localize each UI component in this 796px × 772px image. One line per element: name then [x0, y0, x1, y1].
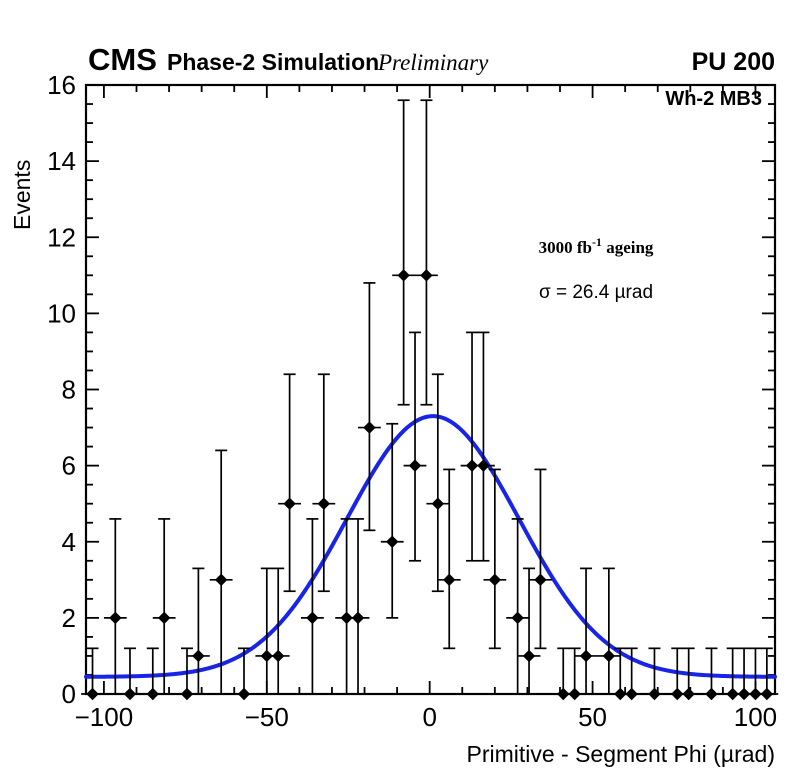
x-tick-label: 0 — [422, 702, 436, 732]
x-tick-label: −100 — [75, 702, 134, 732]
x-axis-title: Primitive - Segment Phi (µrad) — [466, 741, 775, 767]
wheel-station-label: Wh-2 MB3 — [665, 88, 762, 110]
phase2-simulation-label: Phase-2 Simulation — [167, 49, 379, 75]
y-tick-label: 6 — [62, 451, 76, 481]
y-tick-label: 0 — [62, 679, 76, 709]
y-tick-label: 14 — [47, 146, 76, 176]
cms-logo-text: CMS — [88, 42, 157, 77]
y-tick-label: 4 — [62, 527, 76, 557]
preliminary-label: Preliminary — [377, 50, 489, 75]
y-tick-label: 12 — [47, 222, 76, 252]
pileup-label: PU 200 — [692, 48, 775, 76]
y-tick-label: 16 — [47, 70, 76, 100]
sigma-value-label: σ = 26.4 µrad — [539, 282, 653, 303]
plot-canvas: CMS Phase-2 Simulation Preliminary PU 20… — [0, 0, 796, 772]
y-tick-label: 2 — [62, 603, 76, 633]
y-axis-title: Events — [9, 160, 35, 230]
x-tick-label: 50 — [578, 702, 607, 732]
x-tick-label: 100 — [734, 702, 777, 732]
x-tick-label: −50 — [245, 702, 289, 732]
y-tick-label: 8 — [62, 375, 76, 405]
physics-plot-figure: CMS Phase-2 Simulation Preliminary PU 20… — [0, 0, 796, 772]
y-tick-label: 10 — [47, 298, 76, 328]
